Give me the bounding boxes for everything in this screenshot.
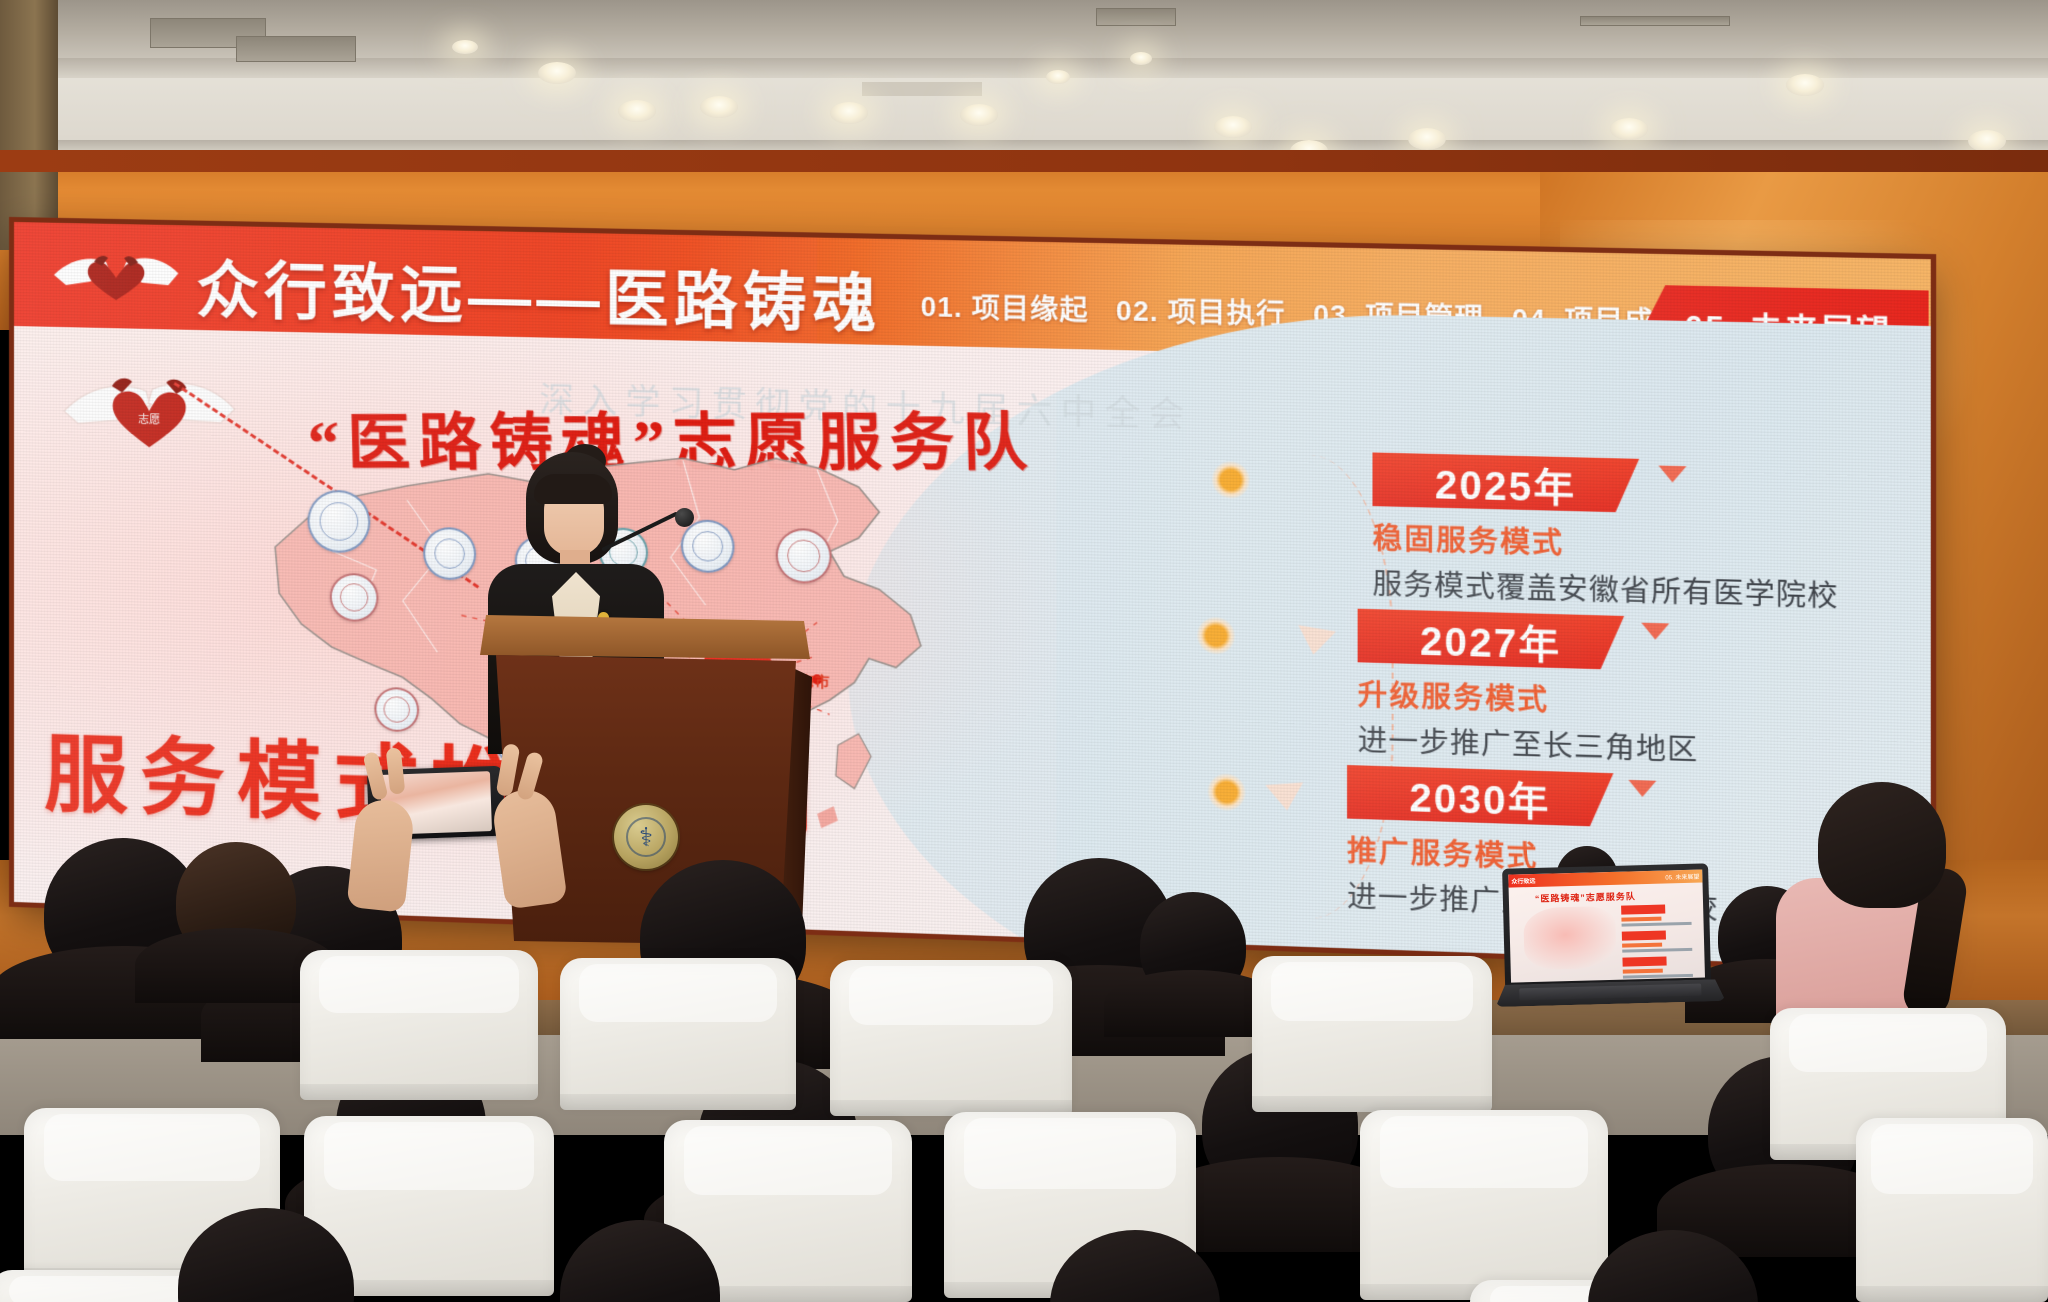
laptop-lid: 众行致远 05. 未来展望 “医路铸魂”志愿服务队: [1502, 863, 1711, 988]
ceiling-vent: [236, 36, 356, 62]
ceiling-light: [1786, 74, 1824, 96]
timeline-year-badge: 2027年: [1358, 609, 1625, 670]
ceiling-light: [538, 62, 576, 84]
heart-in-hands-icon: [50, 241, 182, 314]
timeline-item-2025[interactable]: 2025年 稳固服务模式 服务模式覆盖安徽省所有医学院校: [1372, 452, 1876, 616]
laptop-screen[interactable]: 众行致远 05. 未来展望 “医路铸魂”志愿服务队: [1508, 870, 1705, 983]
nav-item-01[interactable]: 01. 项目缘起: [921, 285, 1089, 328]
university-logo: [776, 528, 832, 584]
microphone-icon: [675, 508, 694, 527]
laptop-year-badge: [1621, 905, 1665, 915]
laptop-desc-line: [1622, 948, 1692, 953]
university-logo: [423, 527, 476, 581]
laptop-timeline-row: [1621, 904, 1696, 927]
laptop-slide-nav: 05. 未来展望: [1665, 872, 1699, 882]
chair[interactable]: [300, 950, 538, 1100]
chair[interactable]: [1360, 1110, 1608, 1300]
university-logo: [681, 519, 735, 573]
attendee-head: [1140, 892, 1246, 1000]
laptop[interactable]: 众行致远 05. 未来展望 “医路铸魂”志愿服务队: [1492, 863, 1726, 1019]
university-logo: [308, 489, 371, 553]
laptop-desc-line: [1623, 974, 1693, 979]
ceiling-light: [830, 102, 868, 124]
timeline-triangle-icon: [1659, 466, 1687, 483]
attendee-head: [1818, 782, 1946, 908]
ceiling-light: [700, 96, 738, 118]
laptop-slide-brand: 众行致远: [1511, 876, 1535, 886]
laptop-slide-title: “医路铸魂”志愿服务队: [1535, 889, 1636, 905]
ceiling-light: [1968, 130, 2006, 152]
hair-fringe: [534, 474, 612, 504]
chair[interactable]: [560, 958, 796, 1110]
audience-area: [0, 760, 2048, 1302]
laptop-timeline-row: [1622, 956, 1697, 979]
ceiling-vent: [1580, 16, 1730, 26]
timeline-triangle-icon: [1641, 623, 1669, 640]
ceiling-light: [452, 40, 478, 54]
chair[interactable]: [830, 960, 1072, 1116]
attendee-head: [176, 842, 296, 962]
ceiling-light: [618, 100, 656, 122]
laptop-subtitle-line: [1622, 943, 1662, 948]
timeline-description: 服务模式覆盖安徽省所有医学院校: [1372, 562, 1876, 617]
slide-brand-title: 众行致远——医路铸魂: [196, 240, 881, 345]
laptop-year-badge: [1622, 931, 1666, 941]
chair[interactable]: [1252, 956, 1492, 1112]
ceiling-panel-seam: [862, 82, 982, 96]
lectern-top: [480, 615, 810, 659]
timeline-year-badge: 2025年: [1372, 452, 1639, 512]
ceiling-light: [1130, 52, 1152, 65]
ceiling-light: [1046, 70, 1070, 84]
ceiling-vent: [1096, 8, 1176, 26]
chair[interactable]: [1856, 1118, 2048, 1302]
laptop-timeline-row: [1622, 930, 1697, 953]
ceiling-light: [960, 104, 998, 126]
left-wall-column: [0, 0, 58, 250]
timeline-item-2027[interactable]: 2027年 升级服务模式 进一步推广至长三角地区: [1358, 609, 1862, 775]
ceiling-light: [1408, 128, 1446, 150]
wall-top-trim: [0, 150, 2048, 172]
timeline-marker-dot: [1212, 461, 1250, 499]
svg-text:志愿: 志愿: [138, 413, 160, 427]
laptop-slide-map: [1523, 906, 1617, 970]
laptop-year-badge: [1622, 957, 1666, 967]
ceiling-light: [1610, 118, 1648, 140]
ceiling-light: [1214, 116, 1252, 138]
laptop-slide-header: 众行致远 05. 未来展望: [1508, 870, 1702, 888]
laptop-desc-line: [1622, 922, 1692, 927]
scene-root: 众行致远——医路铸魂 01. 项目缘起 02. 项目执行 03. 项目管理 04…: [0, 0, 2048, 1302]
laptop-subtitle-line: [1623, 969, 1663, 974]
university-logo: [330, 573, 379, 623]
laptop-subtitle-line: [1621, 917, 1661, 922]
timeline-subtitle: 稳固服务模式: [1372, 516, 1876, 570]
timeline-marker-dot: [1197, 617, 1235, 655]
